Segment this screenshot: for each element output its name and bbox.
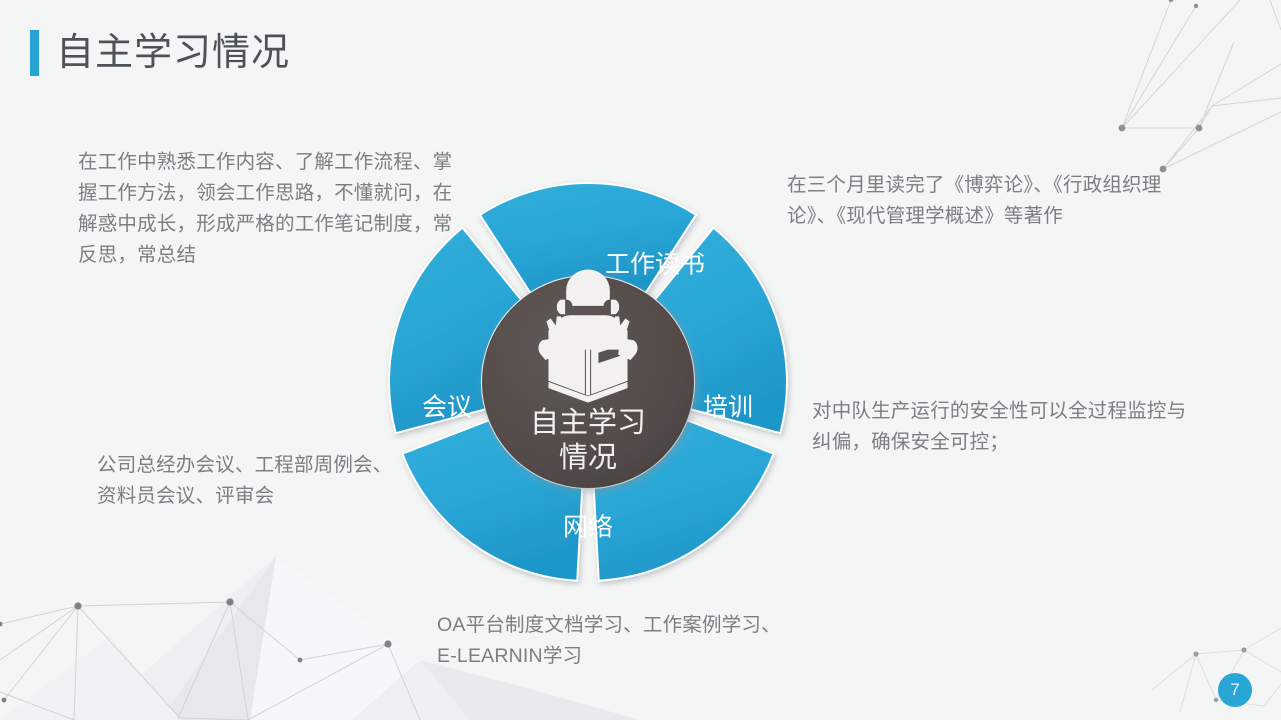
callout-training: 对中队生产运行的安全性可以全过程监控与纠偏，确保安全可控；	[812, 396, 1190, 458]
callout-meeting: 公司总经办会议、工程部周例会、资料员会议、评审会	[97, 450, 397, 512]
page-title: 自主学习情况	[30, 24, 290, 82]
constellation-nodes-top-right	[1119, 0, 1203, 172]
constellation-bottom-right	[1152, 628, 1281, 712]
donut-segment-label-1: 工作	[605, 251, 655, 279]
constellation-top-right	[1122, 0, 1281, 169]
donut-segment-label-2: 读书	[655, 251, 705, 279]
page-number-badge: 7	[1218, 673, 1252, 707]
constellation-bottom-left	[0, 602, 420, 720]
donut-segment-label-3: 培训	[703, 394, 753, 422]
donut-segment-label-5: 会议	[422, 394, 472, 422]
hub-label-line2: 情况	[559, 441, 617, 474]
hub-label-line1: 自主学习	[530, 406, 646, 439]
callout-reading: 在三个月里读完了《博弈论》、《行政组织理论》、《现代管理学概述》等著作	[787, 170, 1177, 232]
callout-network: OA平台制度文档学习、工作案例学习、E-LEARNIN学习	[437, 610, 789, 672]
donut-chart: 工作读书培训网络会议	[380, 174, 796, 590]
donut-segment-label-4: 网络	[563, 514, 613, 542]
title-text: 自主学习情况	[56, 30, 290, 76]
constellation-nodes-bottom-left	[0, 598, 392, 702]
title-accent-bar	[30, 30, 39, 76]
